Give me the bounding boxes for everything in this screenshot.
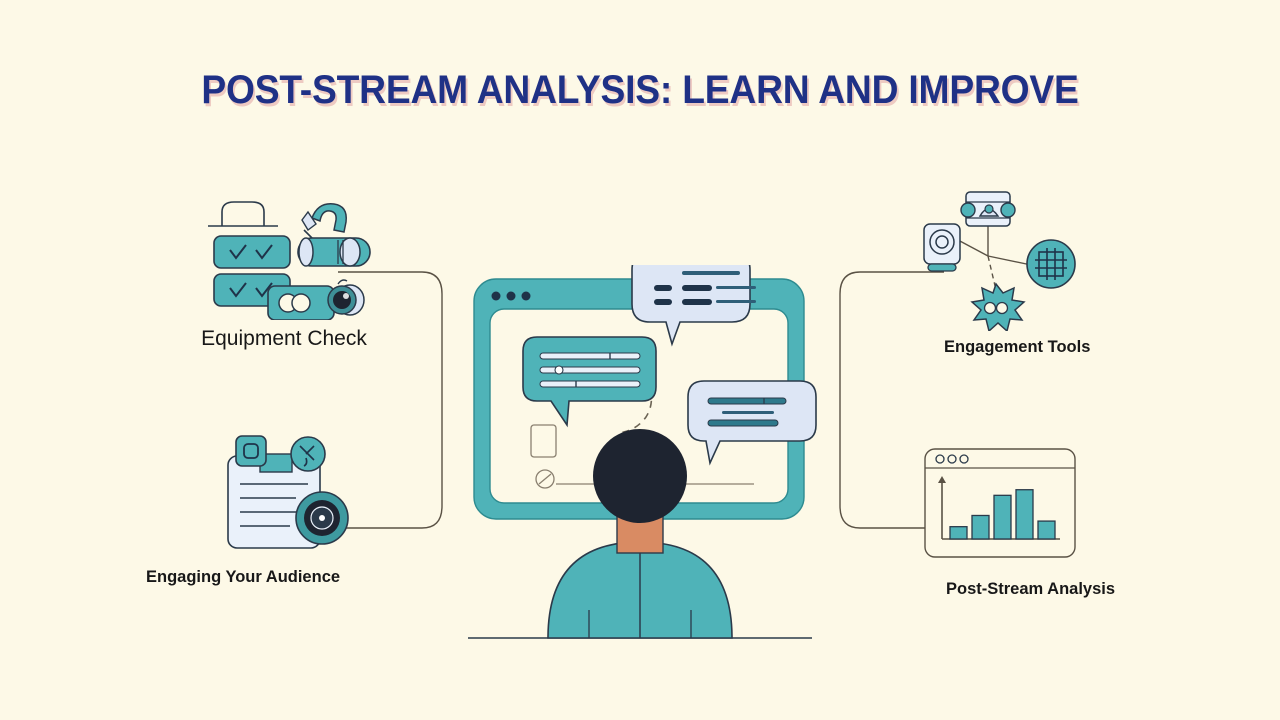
- person-at-monitor-illustration: [460, 265, 830, 645]
- chart-bar: [950, 527, 967, 539]
- chart-bar: [1038, 521, 1055, 539]
- screen-placeholder-box: [531, 425, 556, 457]
- chart-bar: [1016, 490, 1033, 539]
- document-camera-icon: [218, 428, 368, 553]
- node-label-equipment-check: Equipment Check: [198, 326, 370, 351]
- slide-canvas: POST-STREAM ANALYSIS: LEARN AND IMPROVE: [0, 0, 1280, 720]
- monitor-dot: [492, 292, 501, 301]
- node-label-engaging-your-audience: Engaging Your Audience: [146, 568, 340, 587]
- chart-bar: [994, 495, 1011, 539]
- chart-bar: [972, 515, 989, 539]
- monitor-dot: [507, 292, 516, 301]
- person-head: [593, 429, 687, 523]
- bar-chart-window-icon: [920, 444, 1080, 562]
- node-label-engagement-tools: Engagement Tools: [944, 338, 1090, 357]
- node-label-post-stream-analysis: Post-Stream Analysis: [946, 580, 1115, 599]
- engagement-tools-icon: [918, 186, 1083, 331]
- equipment-check-icon: [200, 190, 380, 320]
- monitor-dot: [522, 292, 531, 301]
- page-title: POST-STREAM ANALYSIS: LEARN AND IMPROVE: [45, 68, 1235, 113]
